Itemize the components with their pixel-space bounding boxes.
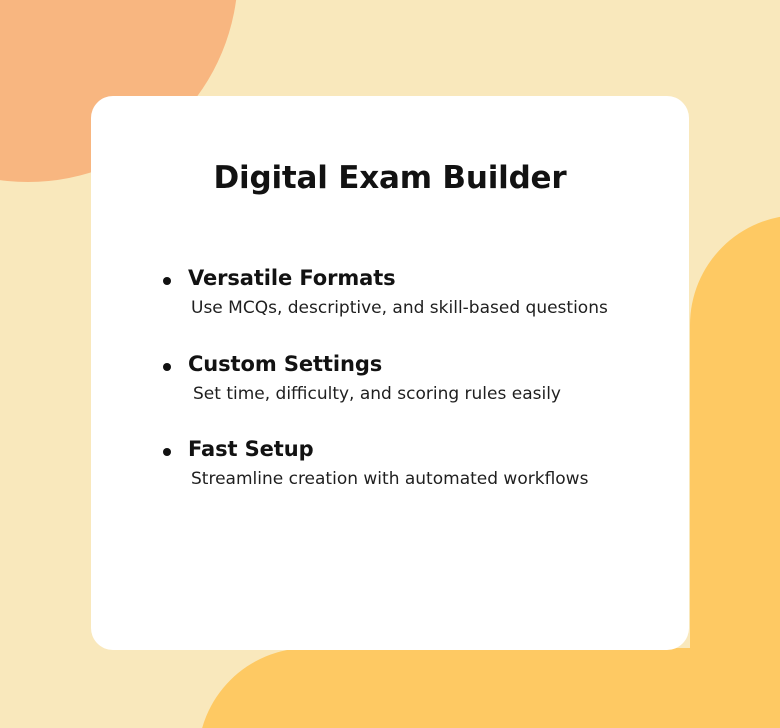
bullet-dot-icon [163, 448, 171, 456]
list-item: Fast Setup Streamline creation with auto… [131, 436, 649, 490]
list-item: Custom Settings Set time, difficulty, an… [131, 351, 649, 405]
list-item: Versatile Formats Use MCQs, descriptive,… [131, 265, 649, 319]
bullet-dot-icon [163, 363, 171, 371]
poster-canvas: Digital Exam Builder Versatile Formats U… [0, 0, 780, 728]
decorative-shape-amber-bottom-icon [198, 648, 780, 728]
feature-heading: Custom Settings [188, 351, 649, 377]
content-card: Digital Exam Builder Versatile Formats U… [91, 96, 689, 650]
feature-heading: Fast Setup [188, 436, 649, 462]
bullet-dot-icon [163, 277, 171, 285]
feature-description: Set time, difficulty, and scoring rules … [188, 383, 649, 405]
feature-description: Use MCQs, descriptive, and skill-based q… [188, 297, 649, 319]
feature-description: Streamline creation with automated workf… [188, 468, 649, 490]
feature-list: Versatile Formats Use MCQs, descriptive,… [131, 265, 649, 490]
feature-heading: Versatile Formats [188, 265, 649, 291]
page-title: Digital Exam Builder [131, 140, 649, 197]
